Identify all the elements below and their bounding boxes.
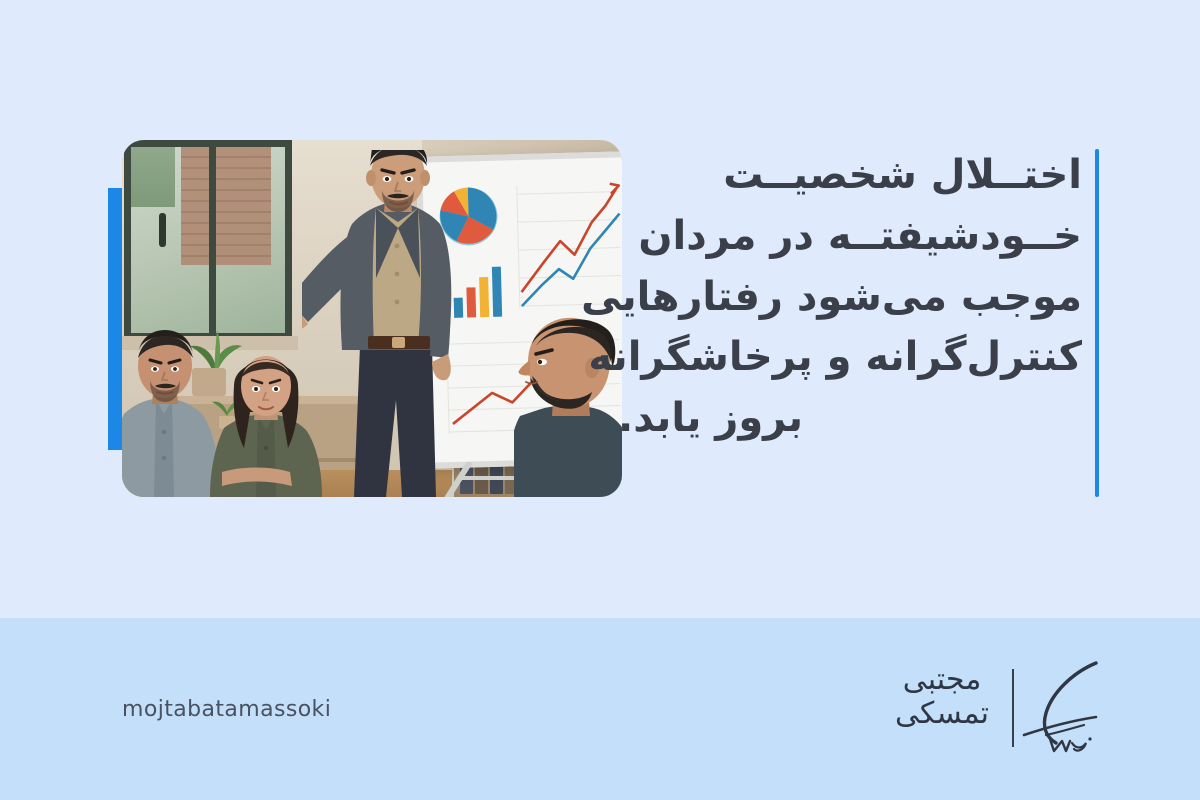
headline-line-1: اختــلال شخصیــت — [612, 145, 1082, 206]
brand-wordmark: مجتبی تمسکی — [884, 663, 1000, 730]
window-foliage — [131, 147, 175, 207]
headline-line-4: کنترل‌گرانه و پرخاشگرانه — [612, 327, 1082, 388]
brand-line-1: مجتبی — [884, 663, 1000, 697]
brand-line-2: تمسکی — [884, 697, 1000, 731]
brand-logo: مجتبی تمسکی — [880, 655, 1110, 765]
headline-line-5: بروز یابد. — [612, 388, 1082, 449]
social-handle: mojtabatamassoki — [122, 697, 331, 722]
window-handle-icon — [159, 213, 166, 247]
presenter-man — [302, 150, 492, 497]
headline-line-2: خــودشیفتــه در مردان — [612, 206, 1082, 267]
window-brick-wall — [181, 147, 271, 265]
photo-window — [124, 140, 292, 340]
headline-accent-rule — [1095, 149, 1099, 497]
window-mullion — [209, 147, 216, 333]
headline-line-3: موجب می‌شود رفتارهایی — [612, 267, 1082, 328]
seated-woman — [208, 352, 324, 497]
hero-photo — [122, 140, 622, 497]
calligraphy-signature-icon — [1012, 655, 1104, 759]
poster-canvas: اختــلال شخصیــت خــودشیفتــه در مردان م… — [0, 0, 1200, 800]
headline: اختــلال شخصیــت خــودشیفتــه در مردان م… — [612, 145, 1082, 449]
